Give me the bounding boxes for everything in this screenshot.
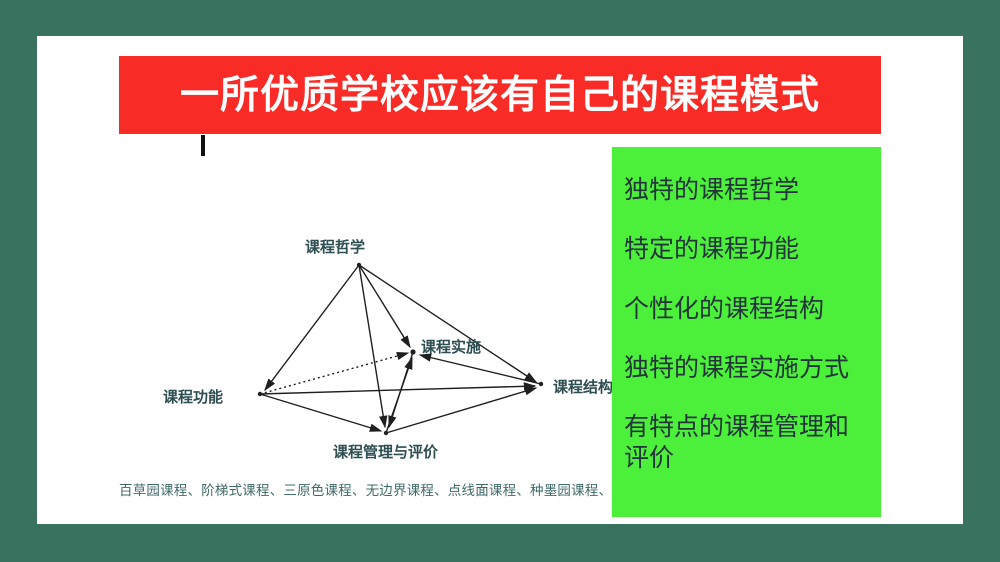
edge-function-structure (260, 386, 535, 394)
node-implementation (410, 349, 415, 354)
edge-function-implementation-dotted (260, 353, 408, 394)
node-label-structure: 课程结构 (553, 376, 613, 397)
edge-philosophy-management (359, 265, 385, 427)
highlight-item: 独特的课程哲学 (624, 175, 871, 206)
highlight-item: 独特的课程实施方式 (624, 353, 871, 384)
edge-philosophy-structure (359, 265, 536, 382)
highlight-item: 有特点的课程管理和评价 (624, 412, 871, 475)
edge-structure-implementation (420, 355, 541, 384)
node-label-philosophy: 课程哲学 (305, 236, 365, 257)
slide-stage: 一所优质学校应该有自己的课程模式 (0, 0, 1000, 562)
highlight-item: 特定的课程功能 (624, 234, 871, 265)
node-function (258, 392, 262, 396)
node-label-implementation: 课程实施 (421, 336, 481, 357)
highlight-item: 个性化的课程结构 (624, 294, 871, 325)
node-management (384, 431, 388, 435)
edge-philosophy-function (265, 265, 359, 390)
page-title: 一所优质学校应该有自己的课程模式 (180, 76, 820, 115)
node-label-function: 课程功能 (163, 386, 223, 407)
node-philosophy (357, 263, 361, 267)
node-label-management: 课程管理与评价 (333, 441, 438, 462)
title-banner: 一所优质学校应该有自己的课程模式 (119, 56, 881, 134)
text-caret-icon (201, 135, 205, 156)
course-model-diagram: 课程哲学 课程功能 课程结构 课程管理与评价 课程实施 (97, 156, 617, 466)
presentation-slide: 一所优质学校应该有自己的课程模式 (37, 36, 963, 524)
node-structure (539, 382, 543, 386)
highlights-panel: 独特的课程哲学 特定的课程功能 个性化的课程结构 独特的课程实施方式 有特点的课… (612, 147, 881, 517)
edge-management-structure (386, 388, 536, 433)
edge-philosophy-implementation (359, 265, 410, 347)
diagram-svg (97, 156, 617, 466)
edge-function-management (260, 394, 381, 431)
